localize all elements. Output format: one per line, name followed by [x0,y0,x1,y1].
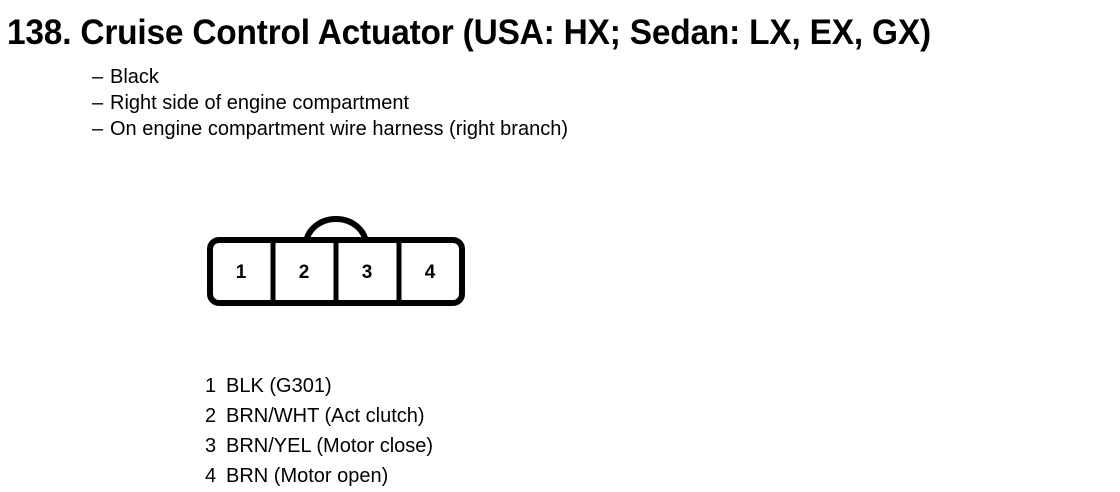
list-item: –On engine compartment wire harness (rig… [92,116,568,142]
list-item-label: Right side of engine compartment [110,92,409,114]
pin-legend-label: BRN (Motor open) [226,465,388,487]
bullet-dash-icon: – [92,64,110,90]
connector-svg: 1 2 3 4 [205,210,475,310]
cavity-number-4: 4 [425,262,436,283]
pin-legend-label: BRN/WHT (Act clutch) [226,405,425,427]
list-item-label: On engine compartment wire harness (righ… [110,118,568,140]
pin-legend-row: 1BLK (G301) [205,371,433,401]
pin-legend-number: 3 [205,431,226,461]
connector-diagram: 1 2 3 4 [205,210,475,310]
pin-legend-list: 1BLK (G301) 2BRN/WHT (Act clutch) 3BRN/Y… [205,371,433,491]
cavity-number-1: 1 [236,262,247,283]
pin-legend-label: BLK (G301) [226,375,332,397]
cavity-number-2: 2 [299,262,310,283]
pin-legend-number: 1 [205,371,226,401]
pin-legend-row: 3BRN/YEL (Motor close) [205,431,433,461]
list-item: –Right side of engine compartment [92,90,568,116]
list-item: –Black [92,64,568,90]
list-item-label: Black [110,66,159,88]
pin-legend-number: 2 [205,401,226,431]
description-list: –Black –Right side of engine compartment… [92,64,568,142]
pin-legend-row: 2BRN/WHT (Act clutch) [205,401,433,431]
pin-legend-label: BRN/YEL (Motor close) [226,435,433,457]
pin-legend-number: 4 [205,461,226,491]
bullet-dash-icon: – [92,116,110,142]
page-title: 138. Cruise Control Actuator (USA: HX; S… [7,14,1067,52]
bullet-dash-icon: – [92,90,110,116]
pin-legend-row: 4BRN (Motor open) [205,461,433,491]
cavity-number-3: 3 [362,262,373,283]
